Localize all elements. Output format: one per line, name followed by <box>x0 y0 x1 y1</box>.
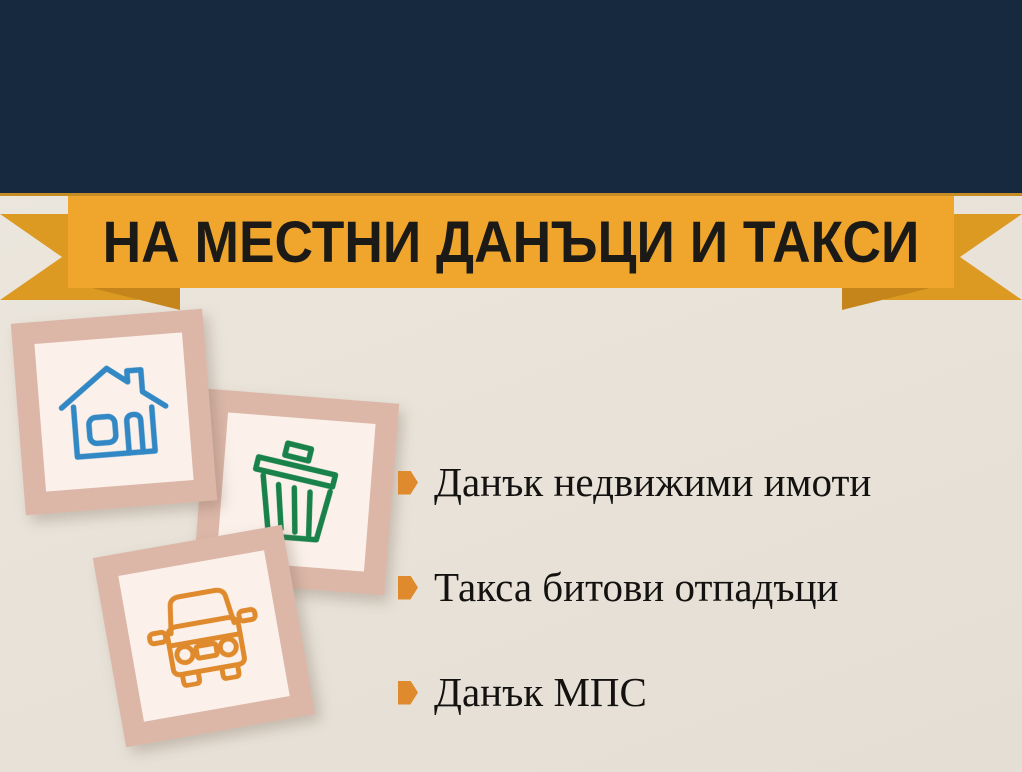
list-item[interactable]: Данък МПС <box>398 640 1008 745</box>
ribbon-label: НА МЕСТНИ ДАНЪЦИ И ТАКСИ <box>103 196 918 288</box>
list-item[interactable]: Такса битови отпадъци <box>398 535 1008 640</box>
list-item-label: Данък МПС <box>434 672 647 713</box>
list-item-label: Такса битови отпадъци <box>434 567 838 608</box>
poster-root: община ЕЛИН ПЕЛИН <box>0 0 1022 772</box>
car-front-icon <box>118 550 289 721</box>
header-bar <box>0 0 1022 196</box>
arrow-pentagon-bullet-icon <box>398 576 418 600</box>
ribbon-banner: НА МЕСТНИ ДАНЪЦИ И ТАКСИ <box>0 196 1022 308</box>
list-item-label: Данък недвижими имоти <box>434 462 871 503</box>
arrow-pentagon-bullet-icon <box>398 471 418 495</box>
stamp-card-property <box>11 309 217 515</box>
house-icon <box>34 332 193 491</box>
tax-type-list: Данък недвижими имоти Такса битови отпад… <box>398 430 1008 745</box>
stamp-card-vehicle <box>93 525 315 747</box>
arrow-pentagon-bullet-icon <box>398 681 418 705</box>
list-item[interactable]: Данък недвижими имоти <box>398 430 1008 535</box>
